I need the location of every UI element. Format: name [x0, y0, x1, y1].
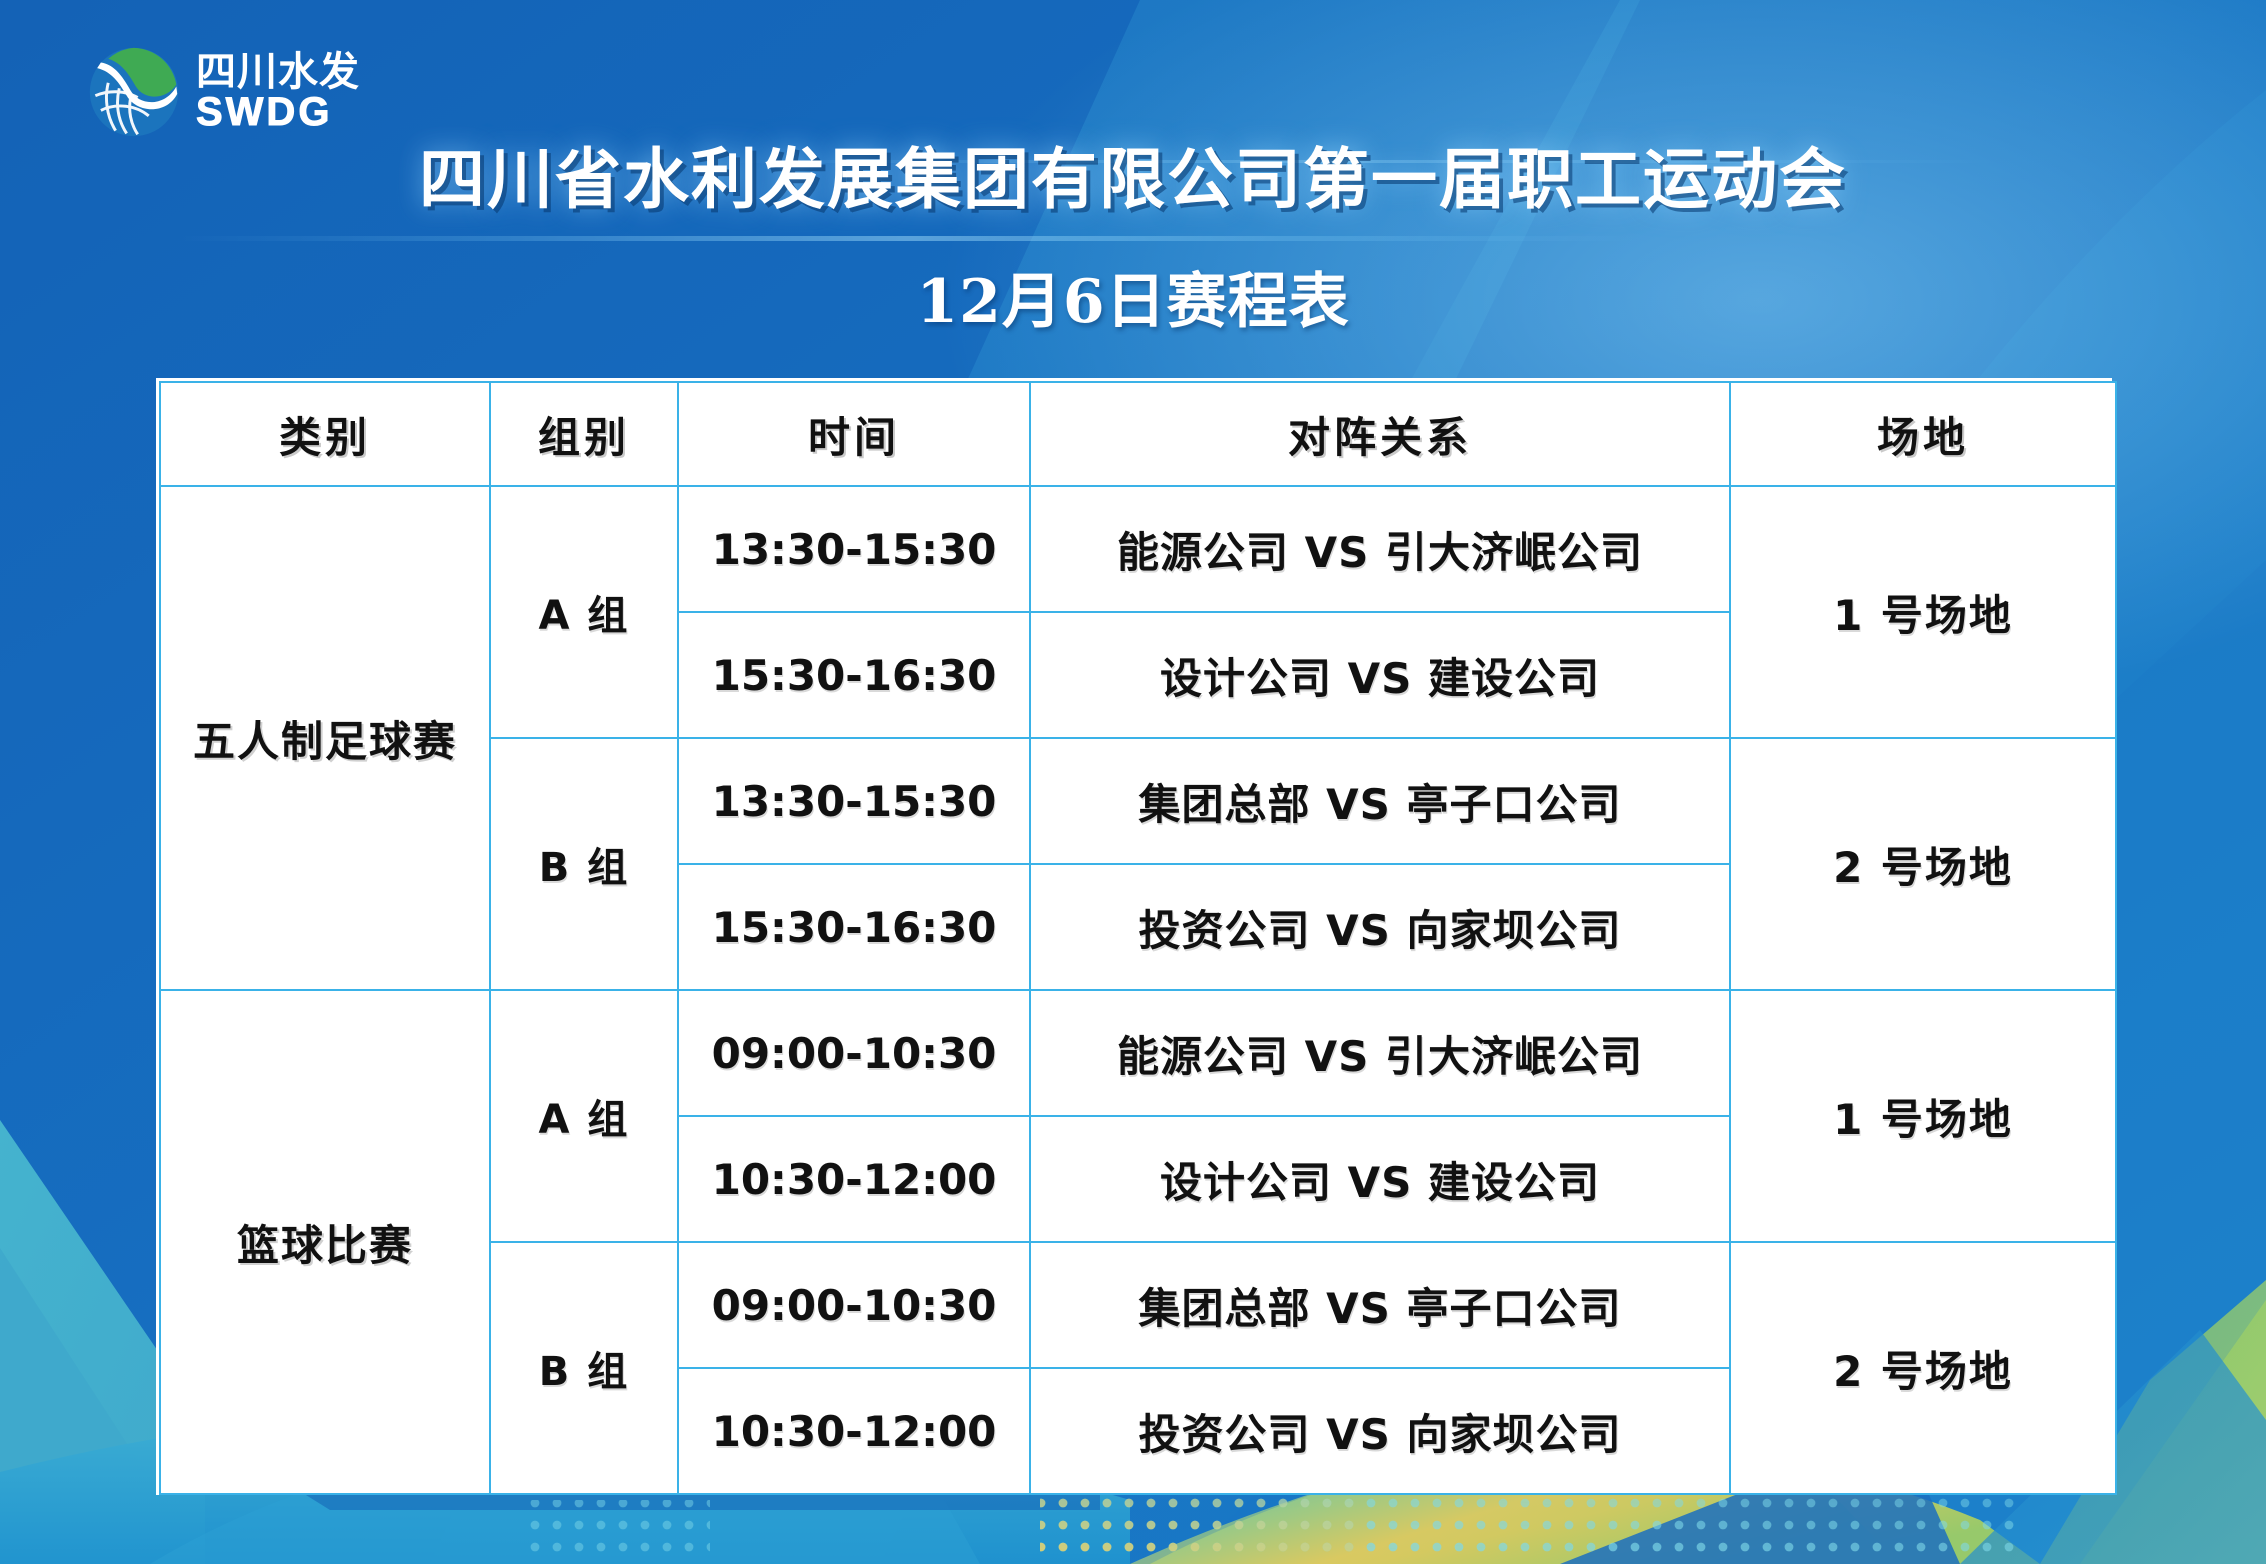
- table-row: 篮球比赛A 组09:00-10:30能源公司 VS 引大济岷公司1 号场地: [160, 990, 2116, 1116]
- column-header-1: 组别: [490, 382, 678, 486]
- cell-venue: 2 号场地: [1730, 1242, 2116, 1494]
- cell-category: 五人制足球赛: [160, 486, 490, 990]
- column-header-4: 场地: [1730, 382, 2116, 486]
- cell-pairing: 集团总部 VS 亭子口公司: [1030, 1242, 1730, 1368]
- cell-time: 10:30-12:00: [678, 1368, 1030, 1494]
- globe-leaf-logo-icon: [88, 46, 180, 138]
- cell-pairing: 能源公司 VS 引大济岷公司: [1030, 990, 1730, 1116]
- cell-group: A 组: [490, 990, 678, 1242]
- cell-pairing: 设计公司 VS 建设公司: [1030, 612, 1730, 738]
- page-subtitle: 12月6日赛程表: [0, 253, 2266, 340]
- cell-time: 13:30-15:30: [678, 486, 1030, 612]
- cell-category: 篮球比赛: [160, 990, 490, 1494]
- cell-pairing: 集团总部 VS 亭子口公司: [1030, 738, 1730, 864]
- brand-logo: 四川水发 SWDG: [88, 46, 360, 138]
- cell-group: B 组: [490, 738, 678, 990]
- schedule-table-container: 类别组别时间对阵关系场地五人制足球赛A 组13:30-15:30能源公司 VS …: [156, 378, 2112, 1495]
- cell-pairing: 能源公司 VS 引大济岷公司: [1030, 486, 1730, 612]
- column-header-2: 时间: [678, 382, 1030, 486]
- cell-time: 15:30-16:30: [678, 612, 1030, 738]
- cell-group: A 组: [490, 486, 678, 738]
- cell-venue: 2 号场地: [1730, 738, 2116, 990]
- logo-name-cn: 四川水发: [196, 52, 360, 93]
- cell-pairing: 设计公司 VS 建设公司: [1030, 1116, 1730, 1242]
- cell-venue: 1 号场地: [1730, 990, 2116, 1242]
- column-header-3: 对阵关系: [1030, 382, 1730, 486]
- cell-time: 10:30-12:00: [678, 1116, 1030, 1242]
- page-title: 四川省水利发展集团有限公司第一届职工运动会: [0, 126, 2266, 222]
- cell-time: 09:00-10:30: [678, 990, 1030, 1116]
- cell-venue: 1 号场地: [1730, 486, 2116, 738]
- cell-time: 09:00-10:30: [678, 1242, 1030, 1368]
- column-header-0: 类别: [160, 382, 490, 486]
- schedule-table: 类别组别时间对阵关系场地五人制足球赛A 组13:30-15:30能源公司 VS …: [159, 381, 2117, 1495]
- cell-group: B 组: [490, 1242, 678, 1494]
- cell-pairing: 投资公司 VS 向家坝公司: [1030, 1368, 1730, 1494]
- cell-time: 13:30-15:30: [678, 738, 1030, 864]
- cell-pairing: 投资公司 VS 向家坝公司: [1030, 864, 1730, 990]
- table-header-row: 类别组别时间对阵关系场地: [160, 382, 2116, 486]
- table-row: 五人制足球赛A 组13:30-15:30能源公司 VS 引大济岷公司1 号场地: [160, 486, 2116, 612]
- cell-time: 15:30-16:30: [678, 864, 1030, 990]
